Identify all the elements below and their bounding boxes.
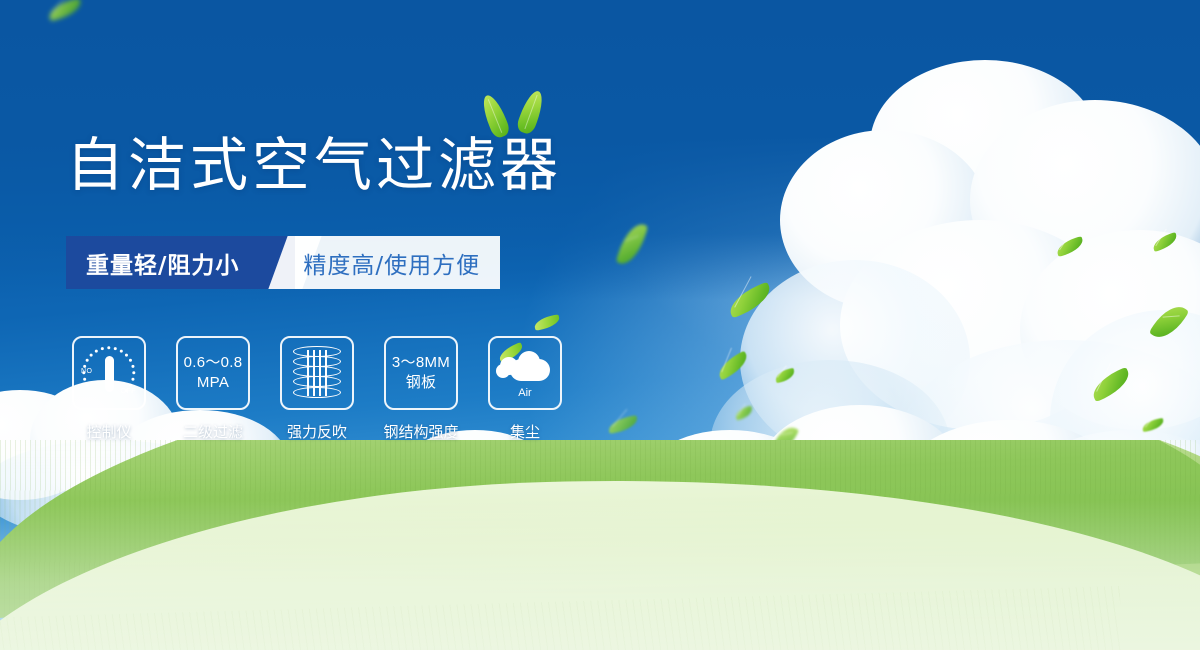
feature-icon-box: 3～8MM 钢板 — [384, 336, 458, 410]
product-hero-banner: 自洁式空气过滤器 重量轻/阻力小 精度高/使用方便 — [0, 0, 1200, 650]
feature-label: 强力反吹 — [287, 421, 347, 442]
feature-item-two-stage-filter[interactable]: 0.6～0.8 MPA 二级过滤 — [174, 336, 252, 442]
subtitle-right-label: 精度高/使用方便 — [303, 246, 480, 280]
feature-icon-box: Air — [488, 336, 562, 410]
feature-list: NO OFF 控制仪 0.6～0.8 MPA 二级过滤 — [70, 336, 564, 442]
air-cloud-icon: Air — [496, 349, 554, 397]
subtitle-left-segment: 重量轻/阻力小 — [66, 236, 261, 289]
feature-label: 集尘 — [510, 421, 540, 442]
gauge-no-label: NO — [81, 368, 93, 375]
title-leaf-pair — [478, 90, 558, 142]
title-block: 自洁式空气过滤器 — [66, 136, 562, 194]
pressure-value-line2: MPA — [197, 373, 229, 393]
feature-item-controller[interactable]: NO OFF 控制仪 — [70, 336, 148, 442]
feature-icon-box — [280, 336, 354, 410]
feature-item-steel-strength[interactable]: 3～8MM 钢板 钢结构强度 — [382, 336, 460, 442]
feature-icon-box: NO OFF — [72, 336, 146, 410]
steel-value-line1: 3～8MM — [392, 353, 450, 373]
leaf-icon — [515, 88, 547, 136]
grass-highlight — [0, 500, 1200, 650]
feature-item-dust-collection[interactable]: Air 集尘 — [486, 336, 564, 442]
feature-item-reverse-blow[interactable]: 强力反吹 — [278, 336, 356, 442]
leaf-icon — [478, 92, 511, 140]
subtitle-right-segment: 精度高/使用方便 — [295, 236, 500, 289]
page-title: 自洁式空气过滤器 — [66, 136, 562, 194]
feature-label: 控制仪 — [86, 421, 131, 442]
feature-label: 二级过滤 — [183, 421, 243, 442]
grass-field — [0, 440, 1200, 650]
feature-label: 钢结构强度 — [383, 421, 458, 442]
subtitle-banner: 重量轻/阻力小 精度高/使用方便 — [66, 236, 500, 289]
coil-icon — [293, 346, 341, 400]
feature-icon-box: 0.6～0.8 MPA — [176, 336, 250, 410]
pressure-value-line1: 0.6～0.8 — [184, 353, 243, 373]
gauge-off-label: OFF — [121, 388, 137, 395]
steel-value-line2: 钢板 — [406, 373, 437, 393]
gauge-icon: NO OFF — [80, 344, 138, 402]
gauge-needle — [105, 356, 114, 392]
air-label: Air — [496, 387, 554, 399]
